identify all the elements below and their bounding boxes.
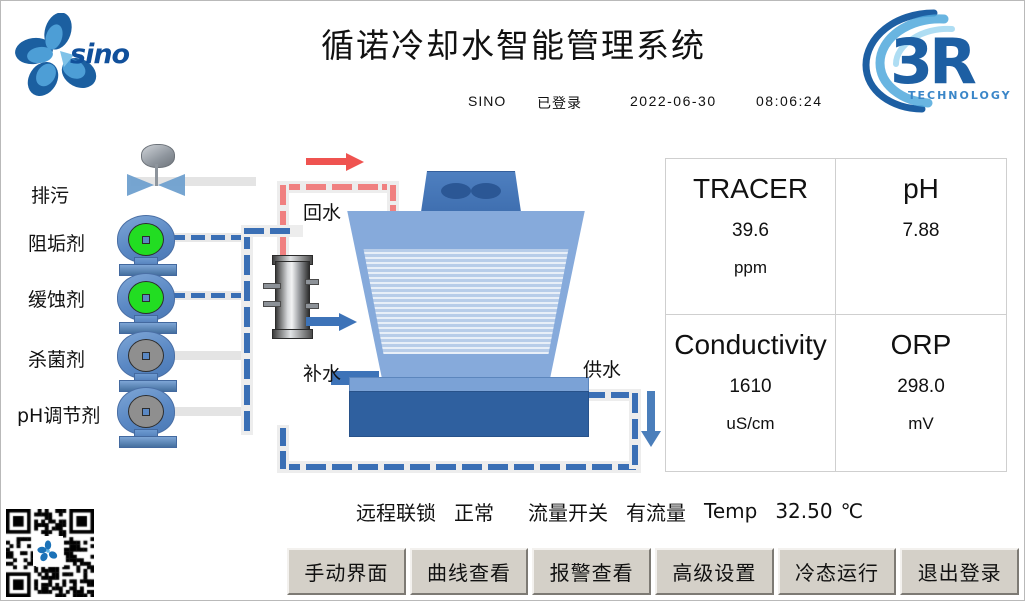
logout-button[interactable]: 退出登录 <box>900 548 1019 595</box>
heat-exchanger-nozzle-left-upper <box>263 283 281 289</box>
pipe-supply-left <box>241 225 253 435</box>
arrow-return-shaft <box>306 158 350 165</box>
page-title: 循诺冷却水智能管理系统 <box>1 19 1025 67</box>
curve-view-button[interactable]: 曲线查看 <box>410 548 529 595</box>
heat-exchanger-nozzle-right-lower <box>305 303 319 309</box>
pipe-biocide <box>171 351 251 360</box>
measurement-value: 39.6 <box>732 220 769 242</box>
manual-interface-button[interactable]: 手动界面 <box>287 548 406 595</box>
pump-biocide[interactable] <box>117 331 179 387</box>
label-ph-adjuster: pH调节剂 <box>17 401 100 428</box>
arrow-supply-icon <box>641 431 661 447</box>
pump-ph-adjuster[interactable] <box>117 387 179 443</box>
sino-flower-icon <box>35 538 61 564</box>
alarm-view-button[interactable]: 报警查看 <box>532 548 651 595</box>
label-biocide: 杀菌剂 <box>28 345 85 372</box>
status-flow-switch-label: 流量开关 <box>528 497 608 526</box>
label-corrosion-inhibitor: 缓蚀剂 <box>28 285 85 312</box>
measurement-panel: TRACER 39.6 ppm pH 7.88 Conductivity 161… <box>665 158 1007 472</box>
application-window: sino 3R TECHNOLOGY 循诺冷却水智能管理系统 SINO 已登录 … <box>0 0 1025 601</box>
pipe-supply-leftlow <box>277 425 289 471</box>
header-login-status: 已登录 <box>537 93 582 113</box>
heat-exchanger-nozzle-right-upper <box>305 279 319 285</box>
measurement-name: ORP <box>891 327 952 362</box>
header-date: 2022-06-30 <box>630 93 717 109</box>
tower-fan-icon <box>441 183 501 199</box>
measurement-tracer: TRACER 39.6 ppm <box>666 159 836 315</box>
measurement-ph: pH 7.88 <box>836 159 1006 315</box>
valve-handwheel-icon <box>141 144 175 168</box>
pump-hub-icon <box>142 352 150 360</box>
heat-exchanger-bottom-cap <box>272 329 313 339</box>
measurement-unit: uS/cm <box>726 414 774 434</box>
status-remote-interlock-value: 正常 <box>454 497 494 526</box>
label-return-water: 回水 <box>303 198 341 225</box>
advanced-settings-button[interactable]: 高级设置 <box>655 548 774 595</box>
label-supply-water: 供水 <box>583 355 621 382</box>
pump-base <box>119 436 177 448</box>
qr-code-logo <box>33 536 63 566</box>
label-blowdown: 排污 <box>31 181 69 208</box>
measurement-value: 7.88 <box>903 220 940 242</box>
heat-exchanger-shell <box>275 261 310 331</box>
heat-exchanger-nozzle-left-lower <box>263 301 281 307</box>
cold-run-button[interactable]: 冷态运行 <box>778 548 897 595</box>
status-temp-label: Temp <box>704 499 757 523</box>
pump-hub-icon <box>142 294 150 302</box>
measurement-name: TRACER <box>693 171 808 206</box>
status-temp-unit: ℃ <box>841 499 863 523</box>
heat-exchanger[interactable] <box>269 253 315 341</box>
pipe-return-left <box>277 181 289 263</box>
arrow-makeup-shaft <box>306 317 342 326</box>
status-temp-value: 32.50 <box>775 499 832 523</box>
pipe-corrosion-inhibitor-active <box>169 291 251 300</box>
pipe-ph-adjuster <box>171 407 251 416</box>
pipe-supply-topjoin <box>241 225 303 237</box>
status-remote-interlock-label: 远程联锁 <box>356 497 436 526</box>
status-bar: 远程联锁 正常 流量开关 有流量 Temp 32.50 ℃ <box>356 497 863 525</box>
pump-corrosion-inhibitor[interactable] <box>117 273 179 329</box>
measurement-orp: ORP 298.0 mV <box>836 315 1006 471</box>
measurement-value: 1610 <box>729 376 771 398</box>
status-flow-switch-value: 有流量 <box>626 497 686 526</box>
pump-hub-icon <box>142 236 150 244</box>
measurement-value: 298.0 <box>897 376 945 398</box>
label-makeup-water: 补水 <box>303 359 341 386</box>
pipe-supply-outright <box>629 389 641 469</box>
pipe-supply-bottom <box>277 461 641 473</box>
pump-scale-inhibitor[interactable] <box>117 215 179 271</box>
measurement-unit: ppm <box>734 258 767 278</box>
header-time: 08:06:24 <box>756 93 823 109</box>
pump-hub-icon <box>142 408 150 416</box>
blowdown-valve[interactable] <box>125 144 189 196</box>
label-scale-inhibitor: 阻垢剂 <box>28 229 85 256</box>
tower-basin <box>349 391 589 437</box>
valve-right-cone-icon <box>158 174 185 196</box>
measurement-name: Conductivity <box>674 327 827 362</box>
logo-3r-subtitle: TECHNOLOGY <box>908 89 1012 102</box>
button-bar: 手动界面 曲线查看 报警查看 高级设置 冷态运行 退出登录 <box>287 548 1019 595</box>
header-user: SINO <box>468 93 506 109</box>
measurement-name: pH <box>903 171 939 206</box>
measurement-conductivity: Conductivity 1610 uS/cm <box>666 315 836 471</box>
cooling-tower <box>341 171 591 436</box>
arrow-supply-shaft <box>647 391 655 433</box>
measurement-unit: mV <box>908 414 934 434</box>
pipe-scale-inhibitor-active <box>169 233 251 242</box>
valve-left-cone-icon <box>127 174 154 196</box>
